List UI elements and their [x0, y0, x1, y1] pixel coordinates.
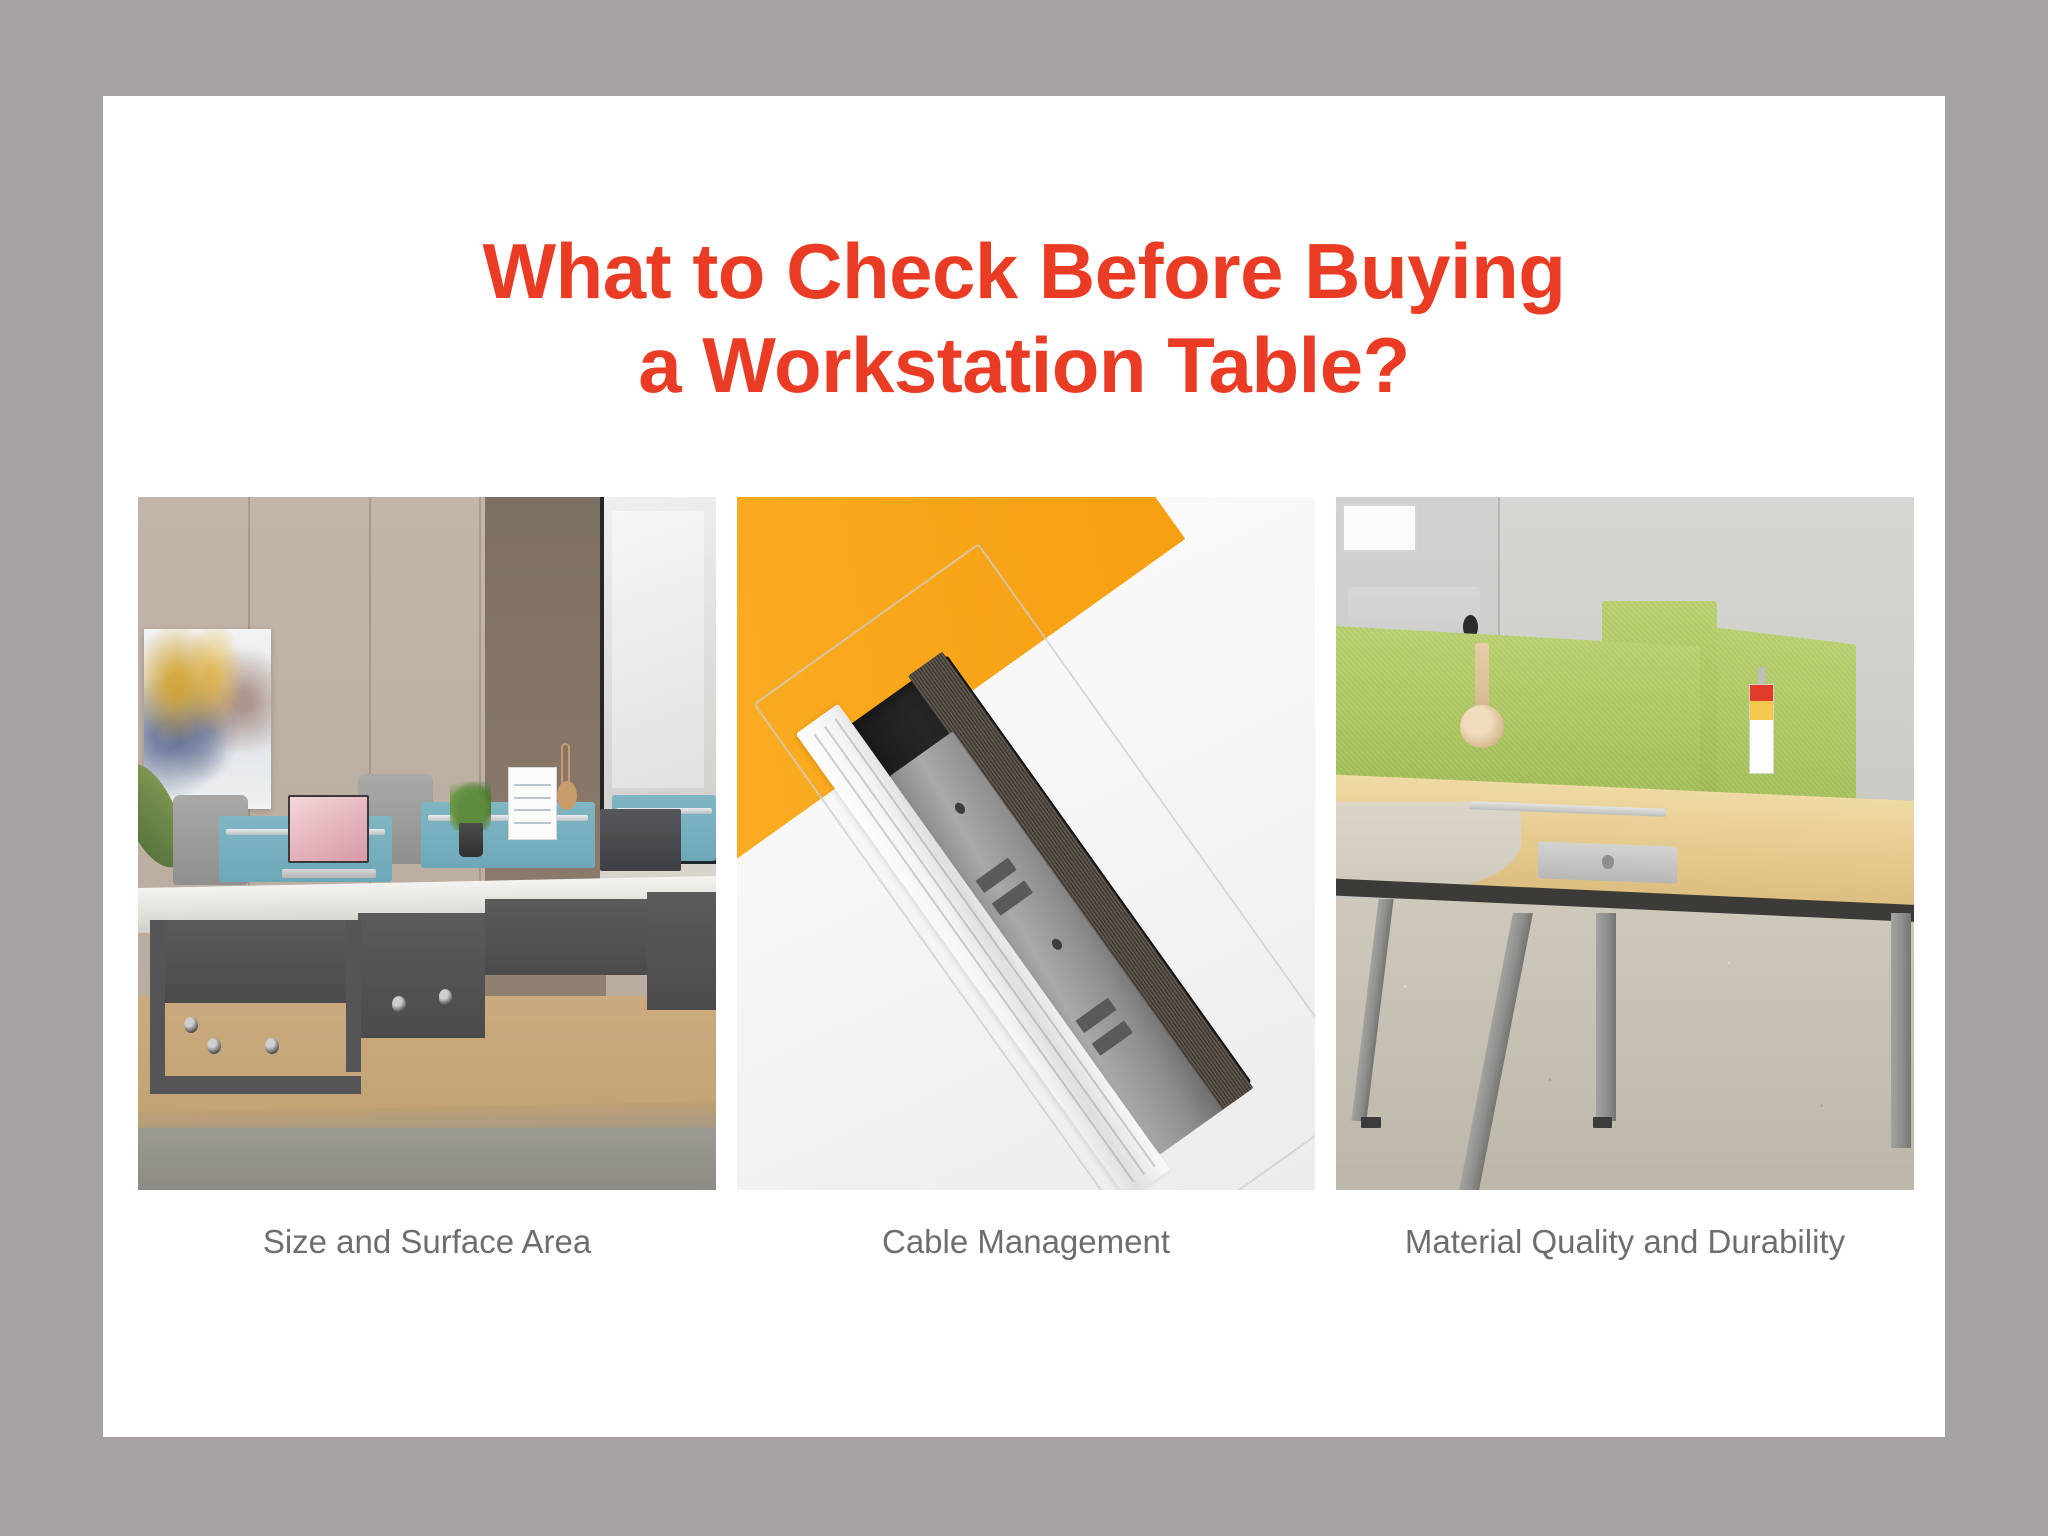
caption-size-and-surface-area: Size and Surface Area	[138, 1221, 716, 1263]
pinned-tag	[1749, 684, 1773, 774]
cable-grommet-photo	[737, 497, 1315, 1190]
headphones	[557, 781, 577, 810]
wall-frame	[1342, 504, 1417, 553]
headphone-cup	[1460, 705, 1503, 748]
desk-modesty-panel	[647, 892, 716, 1010]
tray-hole	[953, 801, 968, 816]
chair-caster	[392, 996, 406, 1013]
caption-material-quality-and-durability: Material Quality and Durability	[1336, 1221, 1914, 1263]
laptop	[288, 795, 369, 878]
window-pane	[612, 511, 704, 788]
image-cable-management	[737, 497, 1315, 1190]
laptop-base	[282, 869, 376, 878]
caption-row: Size and Surface Area Cable Management M…	[138, 1221, 1915, 1263]
monitor	[600, 809, 681, 871]
desk-modesty-panel	[358, 913, 485, 1038]
tray-slot	[976, 858, 1017, 893]
desk-leg	[1891, 913, 1911, 1149]
concrete-floor	[138, 1128, 716, 1190]
chair-caster	[439, 989, 453, 1006]
laptop	[1538, 841, 1677, 884]
desk-leg	[1596, 913, 1616, 1121]
caption-cable-management: Cable Management	[737, 1221, 1315, 1263]
page-title-line-1: What to Check Before Buying	[103, 224, 1945, 318]
desk-foot	[1361, 1117, 1381, 1128]
chair-caster	[265, 1038, 279, 1055]
tray-slot	[1076, 998, 1117, 1033]
framed-artwork	[144, 629, 271, 809]
pinned-note	[508, 767, 557, 840]
image-gallery	[138, 497, 1915, 1190]
desk-foot	[1593, 1117, 1613, 1128]
laptop-hinge	[1602, 855, 1614, 869]
desk-foot-rail	[150, 1076, 362, 1094]
image-material-quality-and-durability	[1336, 497, 1914, 1190]
tray-slot	[1092, 1020, 1133, 1055]
laptop-screen	[288, 795, 369, 863]
desk-apron	[150, 920, 358, 1003]
office-desks-photo	[138, 497, 716, 1190]
slide-card: What to Check Before Buying a Workstatio…	[103, 96, 1945, 1437]
tray-slot	[992, 880, 1033, 915]
plant-pot	[459, 823, 483, 858]
page-title-line-2: a Workstation Table?	[103, 318, 1945, 412]
desk-leg	[346, 920, 361, 1072]
terrazzo-floor	[1336, 899, 1914, 1190]
desk-apron	[485, 899, 647, 975]
green-screen-workstation-photo	[1336, 497, 1914, 1190]
headphone-hanger	[561, 743, 570, 785]
page-title: What to Check Before Buying a Workstatio…	[103, 224, 1945, 412]
desk-leg	[150, 920, 165, 1093]
image-size-and-surface-area	[138, 497, 716, 1190]
tray-hole	[1050, 937, 1065, 952]
